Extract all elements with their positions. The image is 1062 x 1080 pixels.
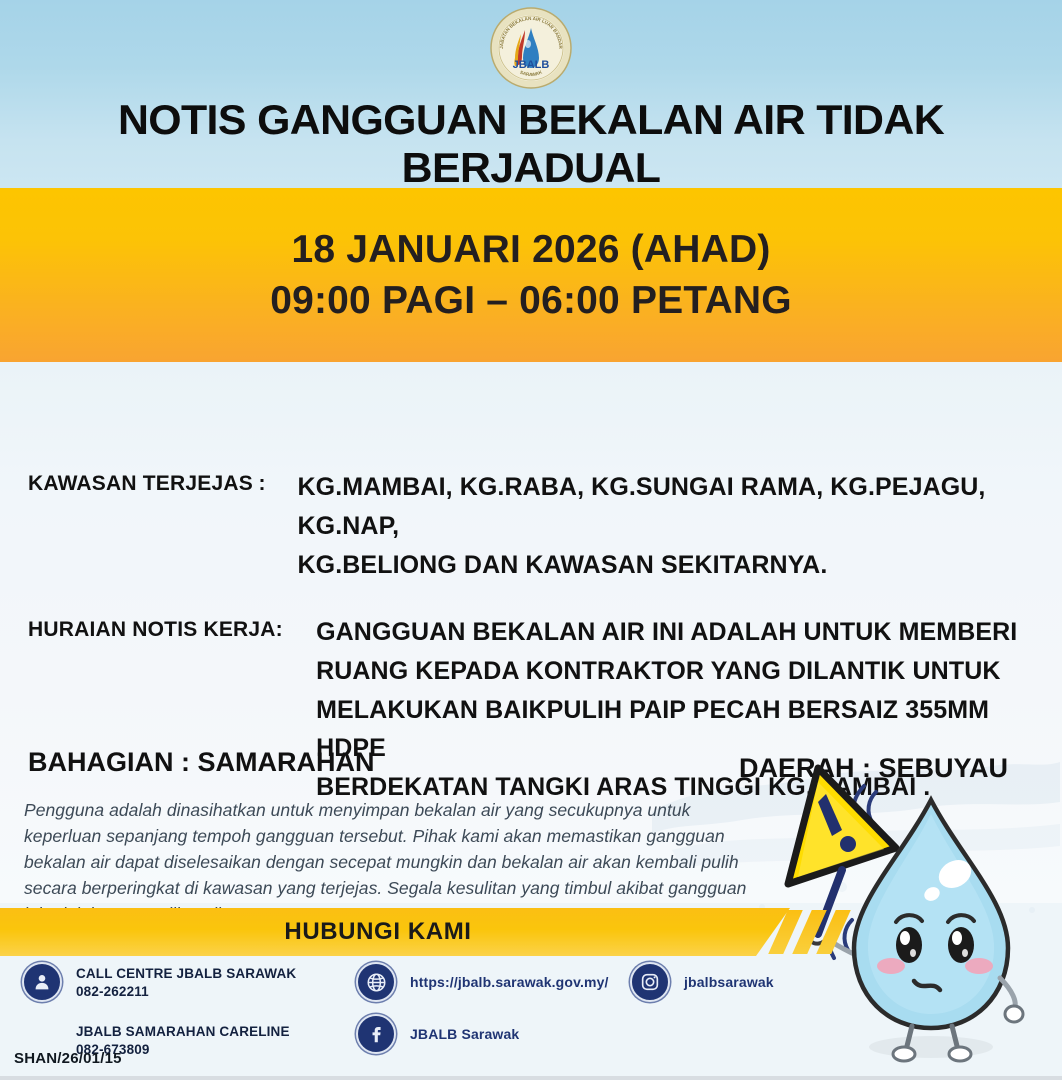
kawasan-colon: : [259, 468, 298, 496]
huraian-line: RUANG KEPADA KONTRAKTOR YANG DILANTIK UN… [316, 652, 1038, 691]
jbalb-logo-svg: JBALB JABATAN BEKALAN AIR LUAR BANDAR SA… [489, 6, 573, 90]
huraian-notis-kerja-label: HURAIAN NOTIS KERJA [28, 613, 276, 642]
kawasan-terjejas-value: KG.MAMBAI, KG.RABA, KG.SUNGAI RAMA, KG.P… [298, 468, 1038, 584]
jbalb-logo: JBALB JABATAN BEKALAN AIR LUAR BANDAR SA… [489, 6, 573, 90]
kawasan-line: KG.BELIONG DAN KAWASAN SEKITARNYA. [298, 546, 1038, 585]
person-icon [22, 962, 62, 1002]
website-url: https://jbalb.sarawak.gov.my/ [410, 974, 609, 990]
notice-date: 18 JANUARI 2026 (AHAD) [291, 224, 770, 275]
notice-time: 09:00 PAGI – 06:00 PETANG [270, 275, 792, 326]
contact-number: 082-262211 [76, 984, 296, 999]
contact-footer: CALL CENTRE JBALB SARAWAK 082-262211 JBA… [0, 956, 1062, 1080]
huraian-notis-kerja-block: HURAIAN NOTIS KERJA : GANGGUAN BEKALAN A… [28, 613, 1038, 807]
water-disruption-notice-poster: JBALB JABATAN BEKALAN AIR LUAR BANDAR SA… [0, 0, 1062, 1080]
contact-label: CALL CENTRE JBALB SARAWAK [76, 966, 296, 981]
kawasan-line: KG.MAMBAI, KG.RABA, KG.SUNGAI RAMA, KG.P… [298, 468, 1038, 546]
huraian-notis-kerja-value: GANGGUAN BEKALAN AIR INI ADALAH UNTUK ME… [316, 613, 1038, 807]
instagram-icon [630, 962, 670, 1002]
contact-call-centre[interactable]: CALL CENTRE JBALB SARAWAK 082-262211 [22, 962, 296, 1002]
kawasan-terjejas-label: KAWASAN TERJEJAS [28, 468, 259, 496]
contact-facebook[interactable]: JBALB Sarawak [356, 1014, 519, 1054]
contact-website-text: https://jbalb.sarawak.gov.my/ [410, 974, 609, 990]
huraian-line: GANGGUAN BEKALAN AIR INI ADALAH UNTUK ME… [316, 613, 1038, 652]
contact-call-centre-text: CALL CENTRE JBALB SARAWAK 082-262211 [76, 966, 296, 999]
kawasan-terjejas-block: KAWASAN TERJEJAS : KG.MAMBAI, KG.RABA, K… [28, 468, 1038, 584]
globe-icon [356, 962, 396, 1002]
page-title: NOTIS GANGGUAN BEKALAN AIR TIDAK BERJADU… [0, 96, 1062, 192]
contact-label: JBALB SAMARAHAN CARELINE [76, 1024, 290, 1039]
contact-instagram-text: jbalbsarawak [684, 974, 774, 990]
logo-abbr: JBALB [513, 59, 550, 71]
contact-website[interactable]: https://jbalb.sarawak.gov.my/ [356, 962, 609, 1002]
header-band: JBALB JABATAN BEKALAN AIR LUAR BANDAR SA… [0, 0, 1062, 188]
contact-facebook-text: JBALB Sarawak [410, 1026, 519, 1042]
contact-banner: HUBUNGI KAMI [0, 908, 1062, 956]
hubungi-kami-title: HUBUNGI KAMI [0, 908, 756, 956]
contact-instagram[interactable]: jbalbsarawak [630, 962, 774, 1002]
date-time-band: 18 JANUARI 2026 (AHAD) 09:00 PAGI – 06:0… [0, 188, 1062, 362]
reference-code: SHAN/26/01/15 [14, 1050, 122, 1067]
huraian-colon: : [276, 613, 316, 642]
instagram-handle: jbalbsarawak [684, 974, 774, 990]
bottom-divider [0, 1076, 1062, 1080]
facebook-icon [356, 1014, 396, 1054]
huraian-line: MELAKUKAN BAIKPULIH PAIP PECAH BERSAIZ 3… [316, 691, 1038, 769]
facebook-handle: JBALB Sarawak [410, 1026, 519, 1042]
